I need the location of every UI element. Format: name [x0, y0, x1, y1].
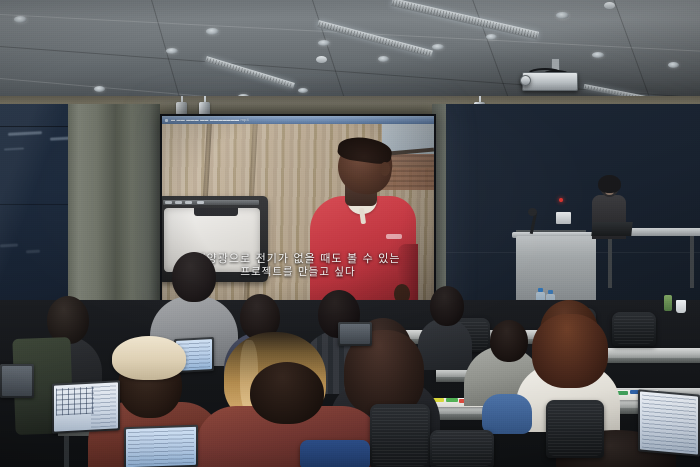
- recessed-downlight: [592, 52, 604, 58]
- blue-bag: [482, 394, 532, 434]
- recessed-downlight: [378, 56, 389, 62]
- presenter-hair: [598, 175, 621, 193]
- recessed-downlight: [486, 34, 497, 40]
- desk-leg: [64, 436, 69, 467]
- beige-cap: [112, 336, 186, 380]
- office-chair[interactable]: [300, 440, 370, 467]
- recessed-downlight: [556, 12, 569, 19]
- recessed-downlight: [432, 44, 444, 50]
- laptop-screen: [2, 366, 32, 396]
- attendee-hair: [532, 314, 608, 388]
- office-chair[interactable]: [370, 404, 430, 467]
- office-chair[interactable]: [430, 430, 494, 467]
- titlebar-icon: [165, 119, 168, 122]
- projector-lens: [520, 75, 531, 86]
- laptop-lid: [0, 364, 34, 398]
- office-chair[interactable]: [546, 400, 604, 458]
- laptop-lid: [124, 425, 198, 467]
- lecture-room-photo: 태양광으로 전기가 없을 때도 볼 수 있는 프로젝트를 만들고 싶다 ▬ ▬▬…: [0, 0, 700, 467]
- ceiling: [0, 0, 700, 108]
- equipment-box: [556, 212, 571, 224]
- laptop-screen: [54, 382, 118, 431]
- presenter-laptop: [591, 222, 632, 236]
- recessed-downlight: [668, 62, 679, 68]
- podium: [516, 236, 596, 306]
- sticky-note: [446, 398, 458, 402]
- recessed-downlight: [14, 16, 27, 23]
- video-subject-logo: [386, 234, 402, 239]
- laptop-screen: [640, 391, 698, 454]
- smoke-detector: [316, 56, 327, 63]
- crt-stand: [194, 208, 238, 216]
- attendee-head: [172, 252, 216, 302]
- video-subject-ear: [380, 162, 390, 176]
- laptop-lid: [52, 380, 120, 434]
- microphone-icon: [528, 208, 537, 216]
- paper-cup: [676, 300, 686, 313]
- recessed-downlight: [298, 88, 308, 93]
- recessed-downlight: [318, 40, 330, 46]
- recessed-downlight: [206, 28, 219, 35]
- video-window-title: ▬ ▬▬ ▬▬▬ ▬▬ ▬▬▬▬▬▬▬.mp4: [171, 116, 249, 124]
- laptop-lid: [338, 322, 372, 346]
- attendee-head: [250, 362, 324, 424]
- smoke-detector: [604, 2, 615, 9]
- recessed-downlight: [94, 86, 105, 92]
- status-indicator-led: [559, 198, 563, 202]
- table-leg: [690, 236, 694, 288]
- laptop-screen: [340, 324, 370, 344]
- green-bottle: [664, 295, 672, 311]
- grey-wall-column: [68, 104, 116, 320]
- recessed-downlight: [166, 48, 178, 54]
- video-window-titlebar: ▬ ▬▬ ▬▬▬ ▬▬ ▬▬▬▬▬▬▬.mp4: [162, 116, 434, 124]
- laptop-screen: [126, 427, 196, 467]
- laptop-lid: [638, 389, 700, 456]
